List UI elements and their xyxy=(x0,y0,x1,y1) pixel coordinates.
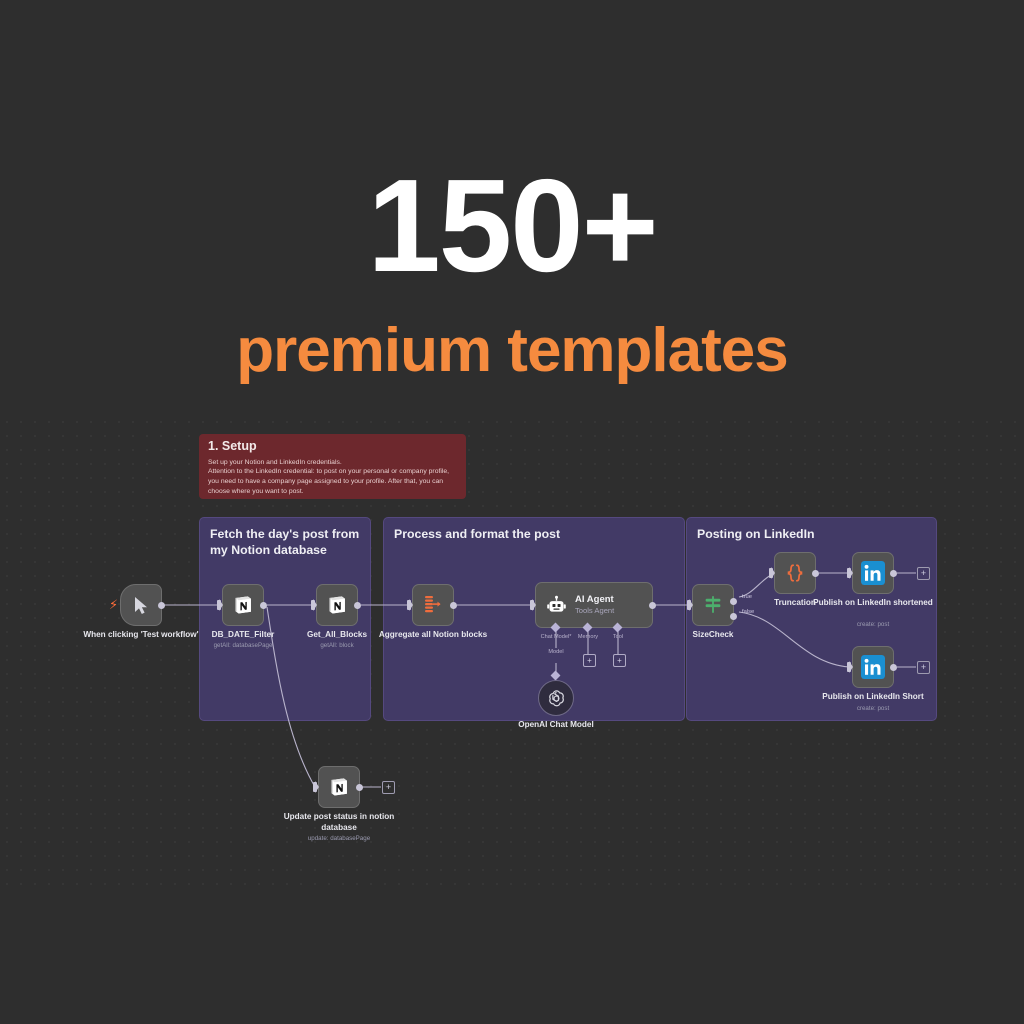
node-output-port[interactable] xyxy=(450,602,457,609)
node-input-port[interactable] xyxy=(769,568,773,578)
code-braces-icon xyxy=(784,562,806,584)
agent-port-tool-label: Tool xyxy=(613,634,623,640)
node-update-post-status[interactable]: Update post status in notion database up… xyxy=(318,766,360,808)
node-input-port[interactable] xyxy=(407,600,411,610)
agent-port-chat-model-label: Chat Model* xyxy=(541,634,572,640)
switch-icon xyxy=(702,594,724,616)
node-ai-agent-text: AI Agent Tools Agent xyxy=(575,594,614,615)
node-publish-linkedin-short-sublabel: create: post xyxy=(813,705,933,713)
node-publish-linkedin-shortened[interactable]: Publish on LinkedIn shortened create: po… xyxy=(852,552,894,594)
agent-port-model-label: Model xyxy=(548,649,563,655)
node-input-port[interactable] xyxy=(311,600,315,610)
node-publish-linkedin-shortened-sublabel: create: post xyxy=(813,621,933,629)
node-openai-chat-model-box[interactable] xyxy=(538,680,574,716)
node-ai-agent-box[interactable]: AI Agent Tools Agent xyxy=(535,582,653,628)
notion-icon xyxy=(328,776,350,798)
node-db-date-filter[interactable]: DB_DATE_Filter getAll: databasePage xyxy=(222,584,264,626)
node-input-port[interactable] xyxy=(530,600,534,610)
branch-label-false: false xyxy=(742,609,754,615)
node-manual-trigger[interactable]: ⚡ When clicking 'Test workflow' xyxy=(120,584,162,626)
node-output-port[interactable] xyxy=(812,570,819,577)
add-node-button-short[interactable]: + xyxy=(917,661,930,674)
node-ai-agent-label: AI Agent xyxy=(575,594,614,605)
lightning-icon: ⚡ xyxy=(109,598,118,611)
add-node-button-shortened[interactable]: + xyxy=(917,567,930,580)
linkedin-icon xyxy=(861,561,885,585)
node-size-check-label: SizeCheck xyxy=(653,630,773,641)
page-subtitle: premium templates xyxy=(0,320,1024,382)
node-size-check[interactable]: SizeCheck xyxy=(692,584,734,626)
node-publish-linkedin-shortened-box[interactable] xyxy=(852,552,894,594)
add-tool-button[interactable]: + xyxy=(613,654,626,667)
node-manual-trigger-box[interactable]: ⚡ xyxy=(120,584,162,626)
node-publish-linkedin-short-box[interactable] xyxy=(852,646,894,688)
node-get-all-blocks-box[interactable] xyxy=(316,584,358,626)
node-openai-chat-model[interactable]: OpenAI Chat Model xyxy=(538,680,574,716)
node-input-port[interactable] xyxy=(217,600,221,610)
aggregate-icon xyxy=(421,594,445,616)
page-title: 150+ xyxy=(0,160,1024,292)
poster-stage: 150+ premium templates 1. Setup Set up y… xyxy=(0,0,1024,1024)
node-ai-agent-sublabel: Tools Agent xyxy=(575,606,614,616)
node-get-all-blocks[interactable]: Get_All_Blocks getAll: block xyxy=(316,584,358,626)
node-aggregate-box[interactable] xyxy=(412,584,454,626)
node-update-post-status-sublabel: update: databasePage xyxy=(279,835,399,843)
add-node-button-update[interactable]: + xyxy=(382,781,395,794)
workflow-canvas[interactable]: 1. Setup Set up your Notion and LinkedIn… xyxy=(0,415,1024,885)
notion-icon xyxy=(326,594,348,616)
node-input-port[interactable] xyxy=(847,568,851,578)
node-output-port[interactable] xyxy=(890,664,897,671)
openai-icon xyxy=(547,689,566,708)
node-output-port[interactable] xyxy=(354,602,361,609)
node-output-port[interactable] xyxy=(649,602,656,609)
node-openai-chat-model-label: OpenAI Chat Model xyxy=(496,720,616,731)
node-input-port[interactable] xyxy=(687,600,691,610)
node-publish-linkedin-short[interactable]: Publish on LinkedIn Short create: post xyxy=(852,646,894,688)
node-db-date-filter-box[interactable] xyxy=(222,584,264,626)
node-aggregate-label: Aggregate all Notion blocks xyxy=(373,630,493,641)
node-ai-agent[interactable]: AI Agent Tools Agent xyxy=(535,582,653,628)
node-output-port[interactable] xyxy=(356,784,363,791)
node-truncation[interactable]: Truncation xyxy=(774,552,816,594)
node-output-port-false[interactable] xyxy=(730,613,737,620)
node-size-check-box[interactable] xyxy=(692,584,734,626)
node-update-post-status-box[interactable] xyxy=(318,766,360,808)
notion-icon xyxy=(232,594,254,616)
linkedin-icon xyxy=(861,655,885,679)
robot-icon xyxy=(546,595,567,616)
headline-block: 150+ premium templates xyxy=(0,160,1024,382)
node-update-post-status-label: Update post status in notion database xyxy=(279,812,399,833)
node-get-all-blocks-sublabel: getAll: block xyxy=(277,642,397,650)
node-publish-linkedin-short-label: Publish on LinkedIn Short xyxy=(813,692,933,703)
add-memory-button[interactable]: + xyxy=(583,654,596,667)
agent-port-memory-label: Memory xyxy=(578,634,598,640)
node-output-port[interactable] xyxy=(158,602,165,609)
node-publish-linkedin-shortened-label: Publish on LinkedIn shortened xyxy=(813,598,933,609)
cursor-arrow-icon xyxy=(134,596,149,615)
node-input-port[interactable] xyxy=(847,662,851,672)
node-input-port[interactable] xyxy=(313,782,317,792)
node-output-port[interactable] xyxy=(890,570,897,577)
node-output-port[interactable] xyxy=(260,602,267,609)
node-aggregate-notion-blocks[interactable]: Aggregate all Notion blocks xyxy=(412,584,454,626)
node-truncation-box[interactable] xyxy=(774,552,816,594)
